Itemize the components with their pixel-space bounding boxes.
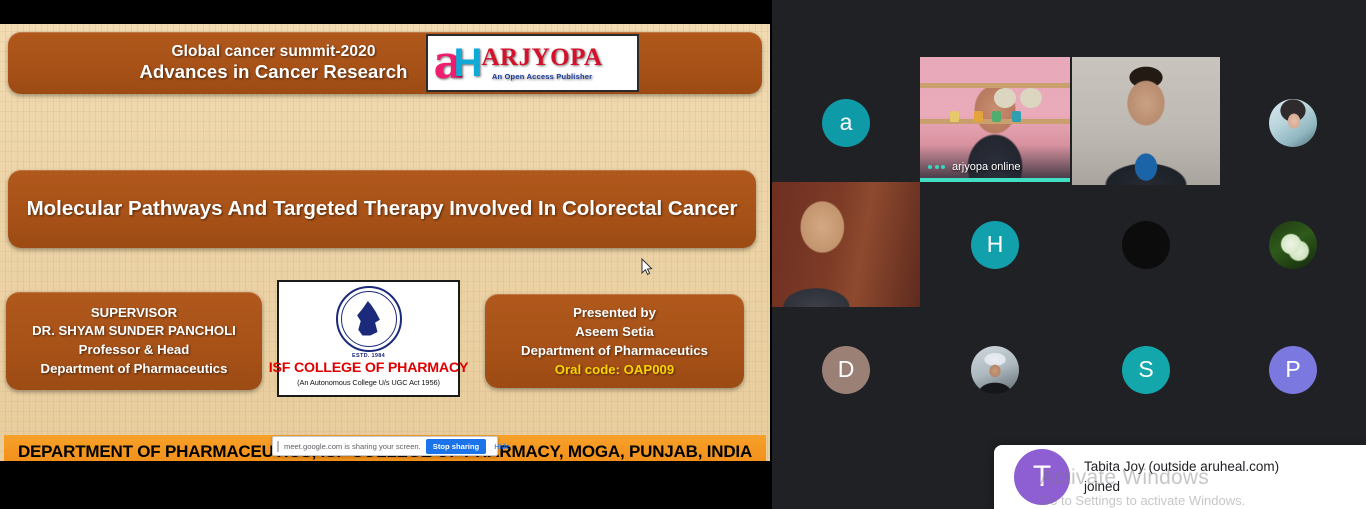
oral-code: Oral code: OAP009: [521, 360, 708, 379]
logo-letter-h: H: [454, 43, 483, 83]
screen-share-bar[interactable]: meet.google.com is sharing your screen. …: [272, 436, 498, 456]
presenter-name: Aseem Setia: [521, 322, 708, 341]
participant-name-row: arjyopa online: [928, 161, 1021, 173]
video-feed: arjyopa online: [920, 57, 1070, 182]
slide-header-band: Global cancer summit-2020 Advances in Ca…: [8, 32, 762, 94]
college-subtitle: (An Autonomous College U/s UGC Act 1956): [297, 378, 440, 387]
participant-tile[interactable]: S: [1072, 307, 1220, 432]
avatar-photo: [1269, 99, 1317, 147]
participant-tile[interactable]: [1220, 55, 1366, 190]
speaking-indicator-icon: [928, 165, 945, 169]
participant-tile[interactable]: a: [772, 55, 920, 190]
participant-tile[interactable]: arjyopa online: [920, 57, 1070, 182]
presented-by-label: Presented by: [521, 303, 708, 322]
participant-tile[interactable]: [920, 307, 1070, 432]
isf-college-logo: ESTD. 1984 ISF COLLEGE OF PHARMACY (An A…: [277, 280, 460, 397]
avatar: [1122, 221, 1170, 269]
arjyopa-tagline: An Open Access Publisher: [482, 72, 603, 81]
participant-tile[interactable]: P: [1220, 307, 1366, 432]
college-estd: ESTD. 1984: [352, 353, 385, 359]
conference-title-block: Global cancer summit-2020 Advances in Ca…: [140, 43, 408, 83]
participant-tile[interactable]: H: [920, 182, 1070, 307]
conference-name: Global cancer summit-2020: [140, 43, 408, 61]
arjyopa-monogram-icon: a H: [434, 39, 480, 87]
avatar-photo: [971, 346, 1019, 394]
meet-presentation-screen: Global cancer summit-2020 Advances in Ca…: [0, 0, 1366, 509]
mouse-cursor-icon: [641, 258, 653, 276]
hide-button[interactable]: Hide: [491, 442, 513, 451]
stop-sharing-button[interactable]: Stop sharing: [426, 439, 486, 454]
arjyopa-logo: a H ARJYOPA An Open Access Publisher: [426, 34, 639, 92]
shared-screen-stage[interactable]: Global cancer summit-2020 Advances in Ca…: [0, 0, 772, 509]
participant-tile[interactable]: [772, 182, 920, 307]
join-notification[interactable]: T Tabita Joy (outside aruheal.com) joine…: [994, 445, 1366, 509]
participant-name: arjyopa online: [952, 161, 1021, 173]
participant-tile[interactable]: D: [772, 307, 920, 432]
participant-tile[interactable]: [1220, 182, 1366, 307]
avatar-photo: [1269, 221, 1317, 269]
participant-grid: a arjyopa online: [772, 0, 1366, 509]
participant-tile[interactable]: [1072, 182, 1220, 307]
video-feed: [1072, 57, 1220, 185]
avatar: S: [1122, 346, 1170, 394]
video-frame: [1072, 57, 1220, 185]
conference-theme: Advances in Cancer Research: [140, 61, 408, 83]
video-frame: [772, 182, 920, 307]
avatar: H: [971, 221, 1019, 269]
supervisor-department: Department of Pharmaceutics: [32, 360, 236, 379]
supervisor-label: SUPERVISOR: [32, 304, 236, 323]
video-feed: [772, 182, 920, 307]
arjyopa-wordmark: ARJYOPA An Open Access Publisher: [482, 45, 603, 81]
supervisor-box: SUPERVISOR DR. SHYAM SUNDER PANCHOLI Pro…: [6, 292, 262, 390]
toast-message: Tabita Joy (outside aruheal.com) joined: [1084, 457, 1314, 498]
presenter-department: Department of Pharmaceutics: [521, 341, 708, 360]
college-seal-icon: [336, 286, 402, 352]
arjyopa-name: ARJYOPA: [482, 45, 603, 70]
slide-title: Molecular Pathways And Targeted Therapy …: [8, 170, 756, 248]
seal-figure-icon: [354, 301, 384, 337]
presenter-box: Presented by Aseem Setia Department of P…: [485, 294, 744, 388]
college-name: ISF COLLEGE OF PHARMACY: [269, 360, 469, 376]
avatar: a: [822, 99, 870, 147]
presentation-slide: Global cancer summit-2020 Advances in Ca…: [0, 24, 770, 461]
supervisor-name: DR. SHYAM SUNDER PANCHOLI: [32, 322, 236, 341]
toast-avatar: T: [1014, 449, 1070, 505]
drag-handle-icon[interactable]: [277, 441, 279, 452]
avatar: P: [1269, 346, 1317, 394]
participant-tile[interactable]: [1072, 57, 1220, 185]
share-message: meet.google.com is sharing your screen.: [284, 442, 421, 451]
avatar: D: [822, 346, 870, 394]
supervisor-designation: Professor & Head: [32, 341, 236, 360]
